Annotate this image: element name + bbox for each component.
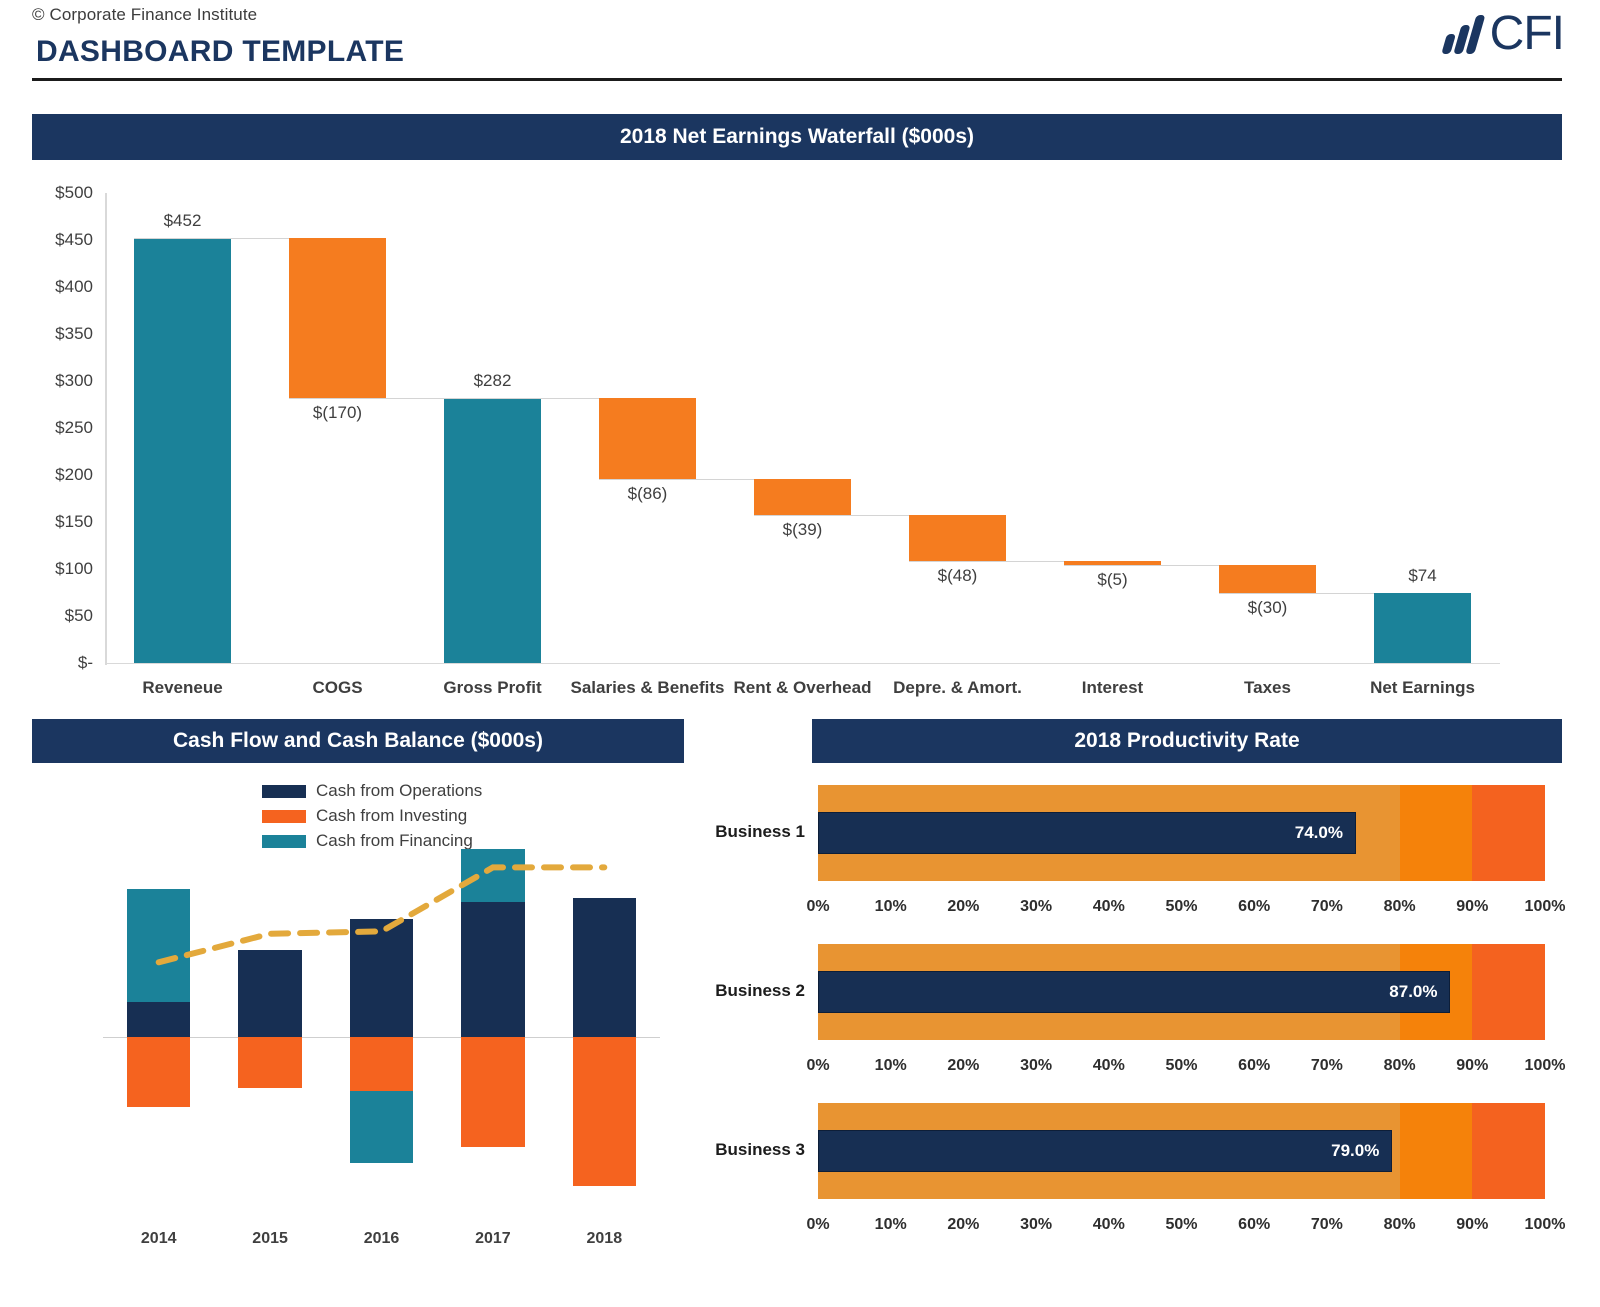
productivity-x-tick: 40% bbox=[1093, 1057, 1125, 1075]
productivity-x-tick: 70% bbox=[1311, 1057, 1343, 1075]
productivity-measure-bar: 74.0% bbox=[818, 812, 1356, 854]
waterfall-bar bbox=[909, 515, 1005, 560]
cashflow-title: Cash Flow and Cash Balance ($000s) bbox=[173, 729, 543, 753]
productivity-measure-bar: 87.0% bbox=[818, 971, 1450, 1013]
productivity-category-label: Business 1 bbox=[640, 822, 805, 842]
waterfall-bar bbox=[1219, 565, 1315, 593]
waterfall-connector bbox=[1219, 593, 1374, 594]
waterfall-y-tick: $350 bbox=[55, 324, 93, 344]
waterfall-y-tick: $400 bbox=[55, 277, 93, 297]
waterfall-bar bbox=[599, 398, 695, 479]
cfi-logo: CFI bbox=[1447, 10, 1564, 58]
productivity-title: 2018 Productivity Rate bbox=[1074, 729, 1299, 753]
productivity-band bbox=[1400, 1103, 1473, 1199]
productivity-x-tick: 60% bbox=[1238, 1057, 1270, 1075]
productivity-value-label: 74.0% bbox=[1295, 823, 1355, 843]
dashboard-page: © Corporate Finance Institute DASHBOARD … bbox=[0, 0, 1600, 1307]
waterfall-category-label: Net Earnings bbox=[1370, 678, 1475, 698]
waterfall-y-tick: $450 bbox=[55, 230, 93, 250]
productivity-category-label: Business 2 bbox=[640, 981, 805, 1001]
productivity-band bbox=[1472, 785, 1545, 881]
productivity-x-tick: 100% bbox=[1525, 1216, 1566, 1234]
productivity-x-tick: 20% bbox=[947, 898, 979, 916]
copyright-notice: © Corporate Finance Institute bbox=[32, 5, 257, 25]
waterfall-category-label: Depre. & Amort. bbox=[893, 678, 1022, 698]
productivity-x-tick: 30% bbox=[1020, 1057, 1052, 1075]
waterfall-title: 2018 Net Earnings Waterfall ($000s) bbox=[620, 125, 974, 149]
productivity-x-tick: 90% bbox=[1456, 898, 1488, 916]
productivity-x-tick: 50% bbox=[1165, 1216, 1197, 1234]
waterfall-data-label: $(30) bbox=[1248, 598, 1288, 618]
waterfall-data-label: $(48) bbox=[938, 566, 978, 586]
waterfall-category-label: COGS bbox=[312, 678, 362, 698]
productivity-x-tick: 10% bbox=[875, 1057, 907, 1075]
waterfall-bar bbox=[1374, 593, 1470, 663]
waterfall-bar bbox=[289, 238, 385, 398]
productivity-band bbox=[1472, 944, 1545, 1040]
waterfall-bar bbox=[754, 479, 850, 516]
waterfall-data-label: $452 bbox=[164, 211, 202, 231]
productivity-x-tick: 90% bbox=[1456, 1057, 1488, 1075]
productivity-band bbox=[1472, 1103, 1545, 1199]
waterfall-connector bbox=[909, 561, 1064, 562]
productivity-x-tick: 0% bbox=[806, 898, 829, 916]
productivity-x-tick: 30% bbox=[1020, 1216, 1052, 1234]
productivity-x-tick: 70% bbox=[1311, 898, 1343, 916]
waterfall-data-label: $(5) bbox=[1097, 570, 1127, 590]
waterfall-connector bbox=[134, 238, 289, 239]
productivity-x-tick: 100% bbox=[1525, 898, 1566, 916]
waterfall-category-label: Taxes bbox=[1244, 678, 1291, 698]
waterfall-category-label: Rent & Overhead bbox=[734, 678, 872, 698]
productivity-x-tick: 80% bbox=[1384, 1216, 1416, 1234]
productivity-x-tick: 50% bbox=[1165, 898, 1197, 916]
productivity-x-tick: 20% bbox=[947, 1216, 979, 1234]
waterfall-connector bbox=[599, 479, 754, 480]
waterfall-category-label: Reveneue bbox=[142, 678, 222, 698]
productivity-x-tick: 70% bbox=[1311, 1216, 1343, 1234]
waterfall-y-tick: $500 bbox=[55, 183, 93, 203]
productivity-x-tick: 10% bbox=[875, 1216, 907, 1234]
productivity-value-label: 79.0% bbox=[1331, 1141, 1391, 1161]
productivity-x-tick: 0% bbox=[806, 1216, 829, 1234]
waterfall-y-tick: $100 bbox=[55, 559, 93, 579]
waterfall-category-label: Interest bbox=[1082, 678, 1143, 698]
productivity-chart: 74.0%Business 10%10%20%30%40%50%60%70%80… bbox=[0, 770, 1600, 1270]
waterfall-chart: $-$50$100$150$200$250$300$350$400$450$50… bbox=[0, 180, 1600, 680]
productivity-x-tick: 90% bbox=[1456, 1216, 1488, 1234]
productivity-x-tick: 60% bbox=[1238, 1216, 1270, 1234]
waterfall-y-axis bbox=[105, 193, 107, 665]
waterfall-bar bbox=[134, 238, 230, 663]
productivity-measure-bar: 79.0% bbox=[818, 1130, 1392, 1172]
waterfall-data-label: $282 bbox=[474, 371, 512, 391]
productivity-x-tick: 40% bbox=[1093, 898, 1125, 916]
waterfall-x-axis bbox=[105, 663, 1500, 664]
productivity-x-tick: 100% bbox=[1525, 1057, 1566, 1075]
productivity-category-label: Business 3 bbox=[640, 1140, 805, 1160]
waterfall-bar bbox=[444, 398, 540, 663]
productivity-x-tick: 40% bbox=[1093, 1216, 1125, 1234]
page-title: DASHBOARD TEMPLATE bbox=[36, 35, 404, 69]
productivity-x-tick: 0% bbox=[806, 1057, 829, 1075]
waterfall-category-label: Gross Profit bbox=[443, 678, 541, 698]
productivity-band bbox=[1400, 785, 1473, 881]
waterfall-y-tick: $300 bbox=[55, 371, 93, 391]
waterfall-connector bbox=[1064, 565, 1219, 566]
waterfall-category-axis: ReveneueCOGSGross ProfitSalaries & Benef… bbox=[0, 678, 1600, 706]
waterfall-y-tick: $50 bbox=[65, 606, 93, 626]
productivity-x-tick: 80% bbox=[1384, 1057, 1416, 1075]
waterfall-banner: 2018 Net Earnings Waterfall ($000s) bbox=[32, 114, 1562, 160]
productivity-x-tick: 60% bbox=[1238, 898, 1270, 916]
waterfall-y-tick: $150 bbox=[55, 512, 93, 532]
productivity-x-tick: 10% bbox=[875, 898, 907, 916]
productivity-x-tick: 20% bbox=[947, 1057, 979, 1075]
waterfall-data-label: $(170) bbox=[313, 403, 362, 423]
waterfall-data-label: $(86) bbox=[628, 484, 668, 504]
waterfall-y-tick: $- bbox=[78, 653, 93, 673]
waterfall-connector bbox=[289, 398, 444, 399]
logo-text: CFI bbox=[1484, 10, 1564, 58]
productivity-x-tick: 30% bbox=[1020, 898, 1052, 916]
productivity-x-tick: 50% bbox=[1165, 1057, 1197, 1075]
waterfall-data-label: $(39) bbox=[783, 520, 823, 540]
waterfall-category-label: Salaries & Benefits bbox=[570, 678, 724, 698]
waterfall-connector bbox=[444, 398, 599, 399]
waterfall-y-tick: $200 bbox=[55, 465, 93, 485]
waterfall-connector bbox=[754, 515, 909, 516]
waterfall-data-label: $74 bbox=[1408, 566, 1436, 586]
productivity-x-tick: 80% bbox=[1384, 898, 1416, 916]
header-divider bbox=[32, 78, 1562, 81]
productivity-banner: 2018 Productivity Rate bbox=[812, 719, 1562, 763]
cashflow-banner: Cash Flow and Cash Balance ($000s) bbox=[32, 719, 684, 763]
productivity-value-label: 87.0% bbox=[1389, 982, 1449, 1002]
waterfall-y-tick: $250 bbox=[55, 418, 93, 438]
logo-bars-icon bbox=[1441, 14, 1485, 54]
